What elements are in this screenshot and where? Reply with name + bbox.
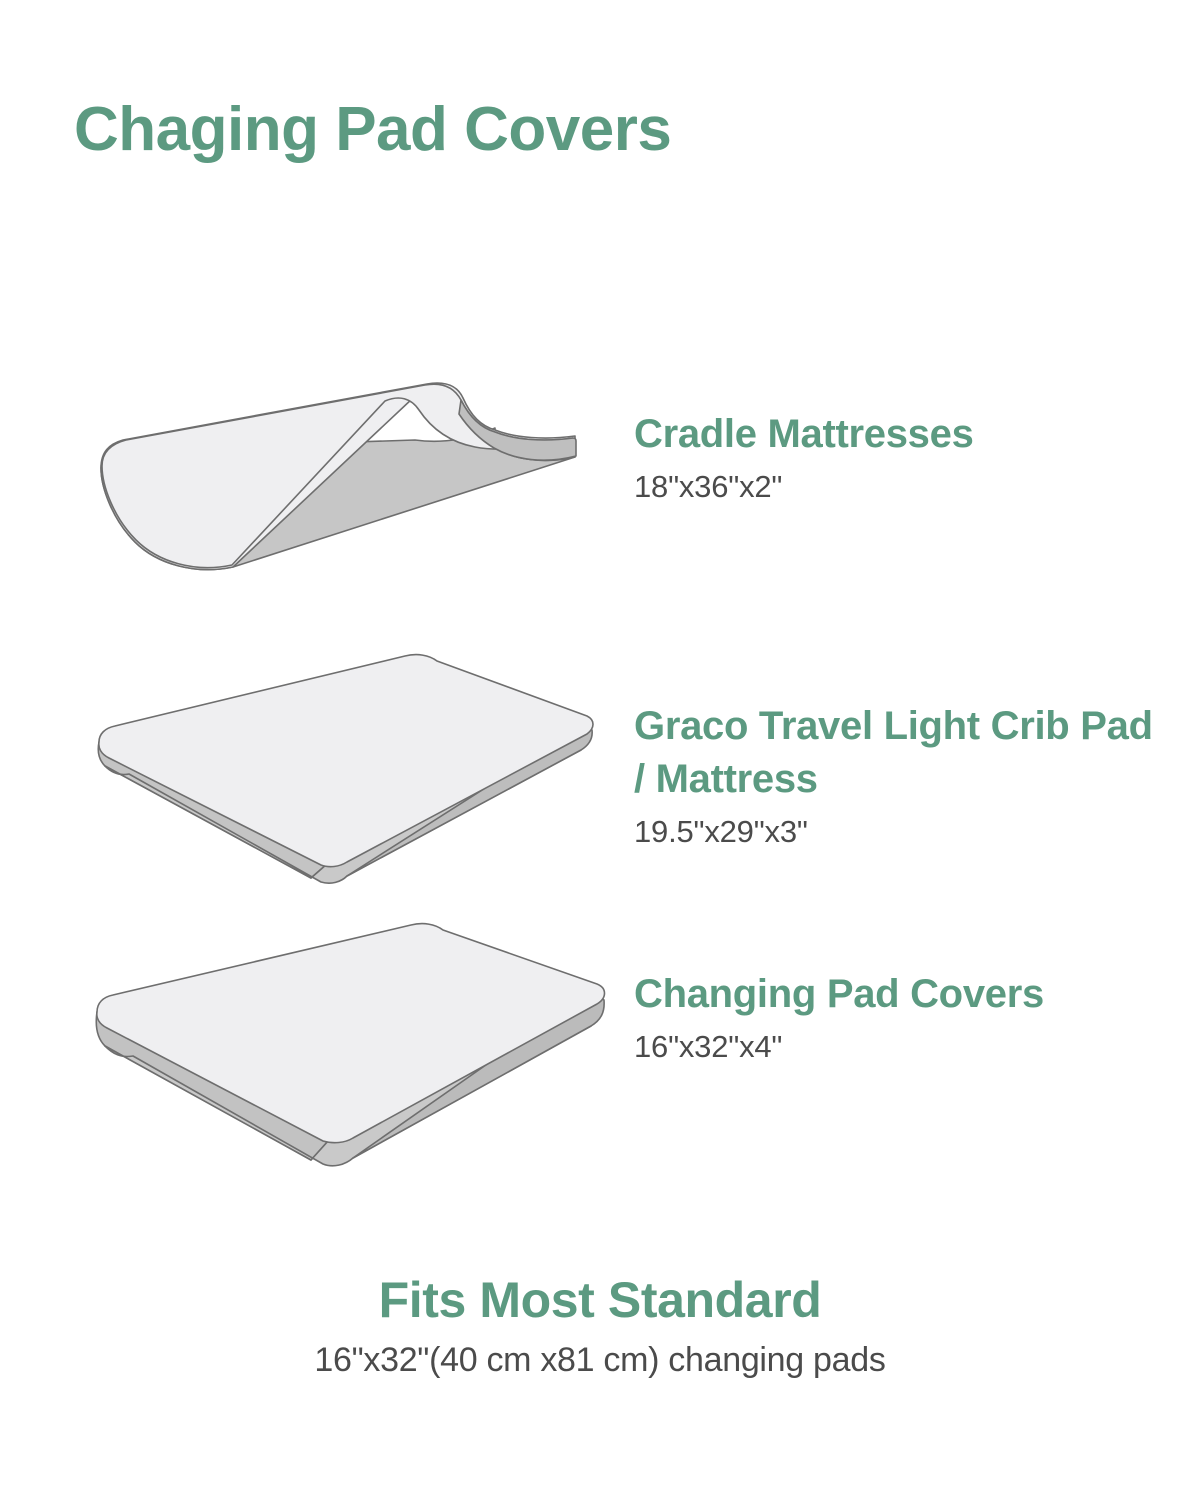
- footer-heading: Fits Most Standard: [0, 1272, 1200, 1330]
- product-row: Changing Pad Covers 16"x32"x4": [0, 920, 1200, 1180]
- contoured-changing-pad-illustration: [75, 360, 635, 595]
- footer: Fits Most Standard 16"x32"(40 cm x81 cm)…: [0, 1272, 1200, 1380]
- product-name: Changing Pad Covers: [634, 968, 1174, 1021]
- product-row: Graco Travel Light Crib Pad / Mattress 1…: [0, 650, 1200, 900]
- product-dimensions: 16"x32"x4": [634, 1027, 1174, 1067]
- thick-mattress-illustration: [75, 920, 635, 1170]
- product-name: Cradle Mattresses: [634, 408, 1174, 461]
- product-name: Graco Travel Light Crib Pad / Mattress: [634, 700, 1174, 806]
- product-row: Cradle Mattresses 18"x36"x2": [0, 360, 1200, 610]
- product-label-block: Changing Pad Covers 16"x32"x4": [634, 968, 1174, 1067]
- product-dimensions: 18"x36"x2": [634, 467, 1174, 507]
- infographic-page: Chaging Pad Covers Cradle Mattresses 18"…: [0, 0, 1200, 1500]
- flat-mattress-illustration: [75, 650, 635, 885]
- page-title: Chaging Pad Covers: [74, 96, 671, 164]
- product-label-block: Graco Travel Light Crib Pad / Mattress 1…: [634, 700, 1174, 852]
- product-dimensions: 19.5"x29"x3": [634, 812, 1174, 852]
- footer-subtext: 16"x32"(40 cm x81 cm) changing pads: [0, 1340, 1200, 1381]
- product-label-block: Cradle Mattresses 18"x36"x2": [634, 408, 1174, 507]
